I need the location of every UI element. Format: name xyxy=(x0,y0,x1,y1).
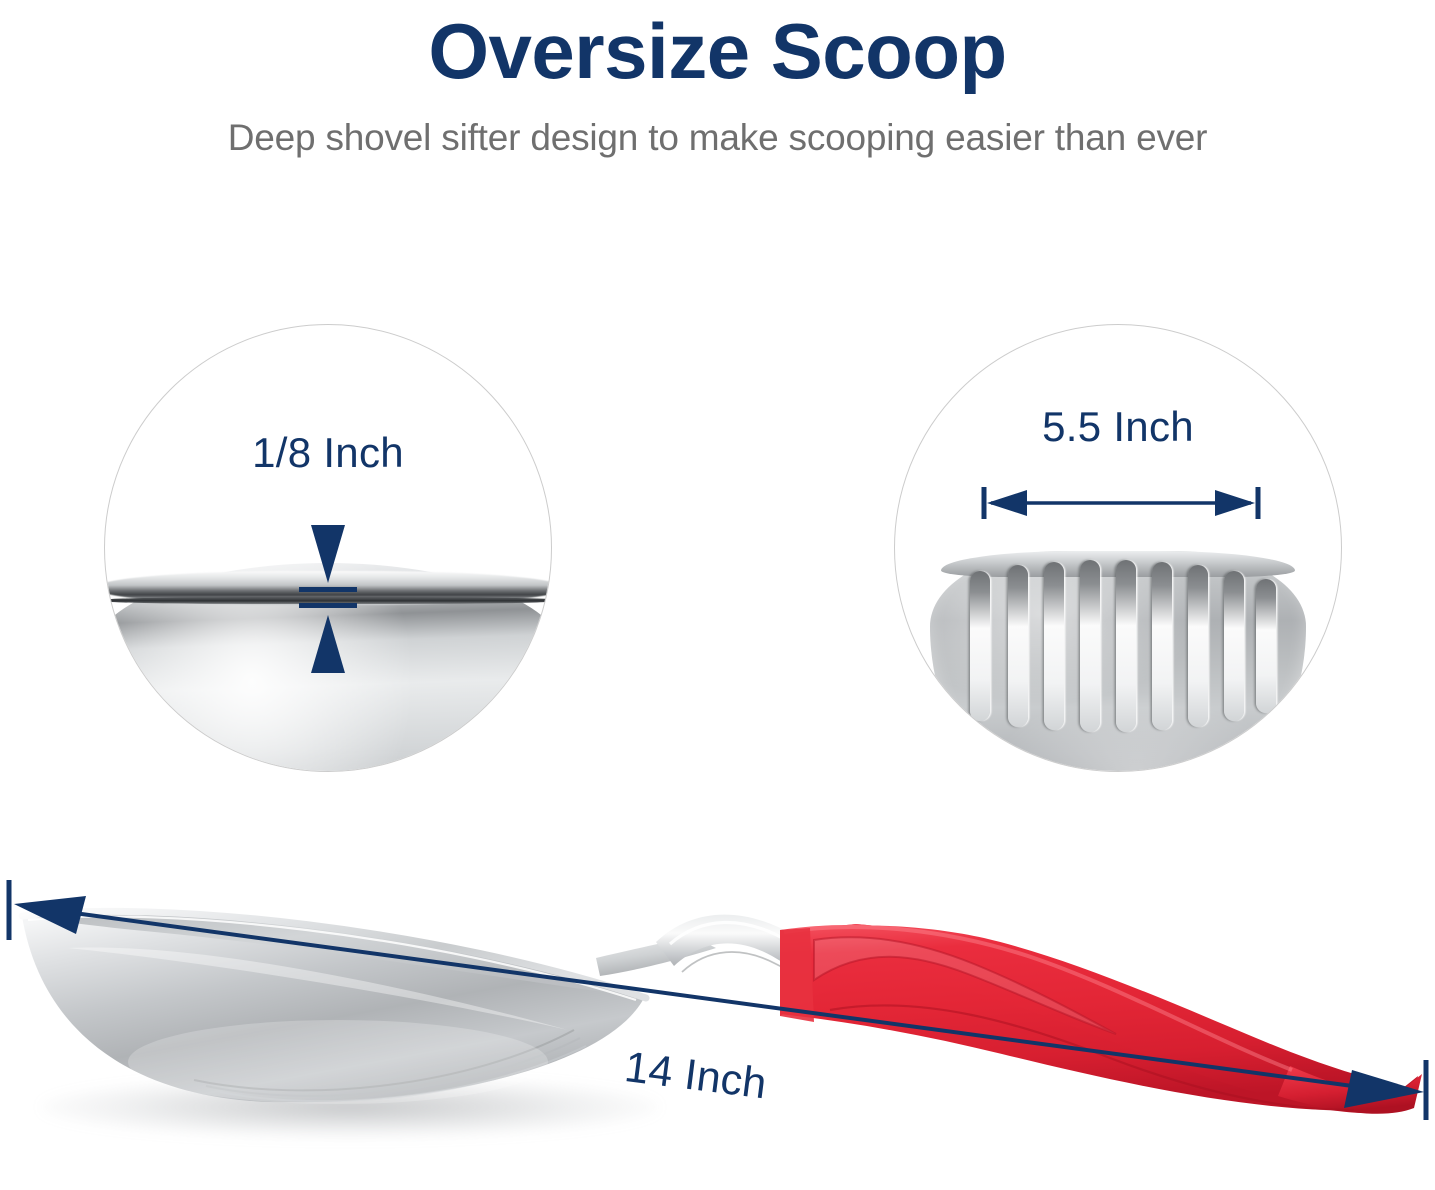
arrow-up-marker xyxy=(311,615,345,673)
product-photo xyxy=(0,848,1435,1190)
width-measurement-label: 5.5 Inch xyxy=(895,403,1341,451)
page-subtitle: Deep shovel sifter design to make scoopi… xyxy=(0,95,1435,159)
sifter-slot xyxy=(1080,560,1100,732)
callout-width: 5.5 Inch xyxy=(894,324,1342,772)
thickness-marker-icon xyxy=(298,525,358,673)
arrow-down-marker xyxy=(311,525,345,583)
sifter-slot xyxy=(1044,562,1064,730)
callout-thickness: 1/8 Inch xyxy=(104,324,552,772)
page-title: Oversize Scoop xyxy=(0,0,1435,95)
sifter-head-body xyxy=(930,551,1306,772)
thickness-measurement-label: 1/8 Inch xyxy=(105,429,551,477)
sifter-slot xyxy=(1008,565,1028,727)
sifter-slot xyxy=(1256,579,1276,713)
sifter-slot xyxy=(1188,565,1208,727)
sifter-slot xyxy=(1116,560,1136,732)
scoop-handle xyxy=(770,918,1430,1118)
slotted-sifter-head-image xyxy=(930,551,1306,772)
thickness-bar-bottom xyxy=(299,603,357,608)
dimension-arrow-icon xyxy=(981,485,1261,521)
thickness-bar-top xyxy=(299,587,357,592)
header: Oversize Scoop Deep shovel sifter design… xyxy=(0,0,1435,159)
sifter-slot xyxy=(1152,562,1172,730)
sifter-slot xyxy=(970,571,990,721)
scoop-bowl xyxy=(8,890,680,1116)
sifter-slot xyxy=(1224,571,1244,721)
